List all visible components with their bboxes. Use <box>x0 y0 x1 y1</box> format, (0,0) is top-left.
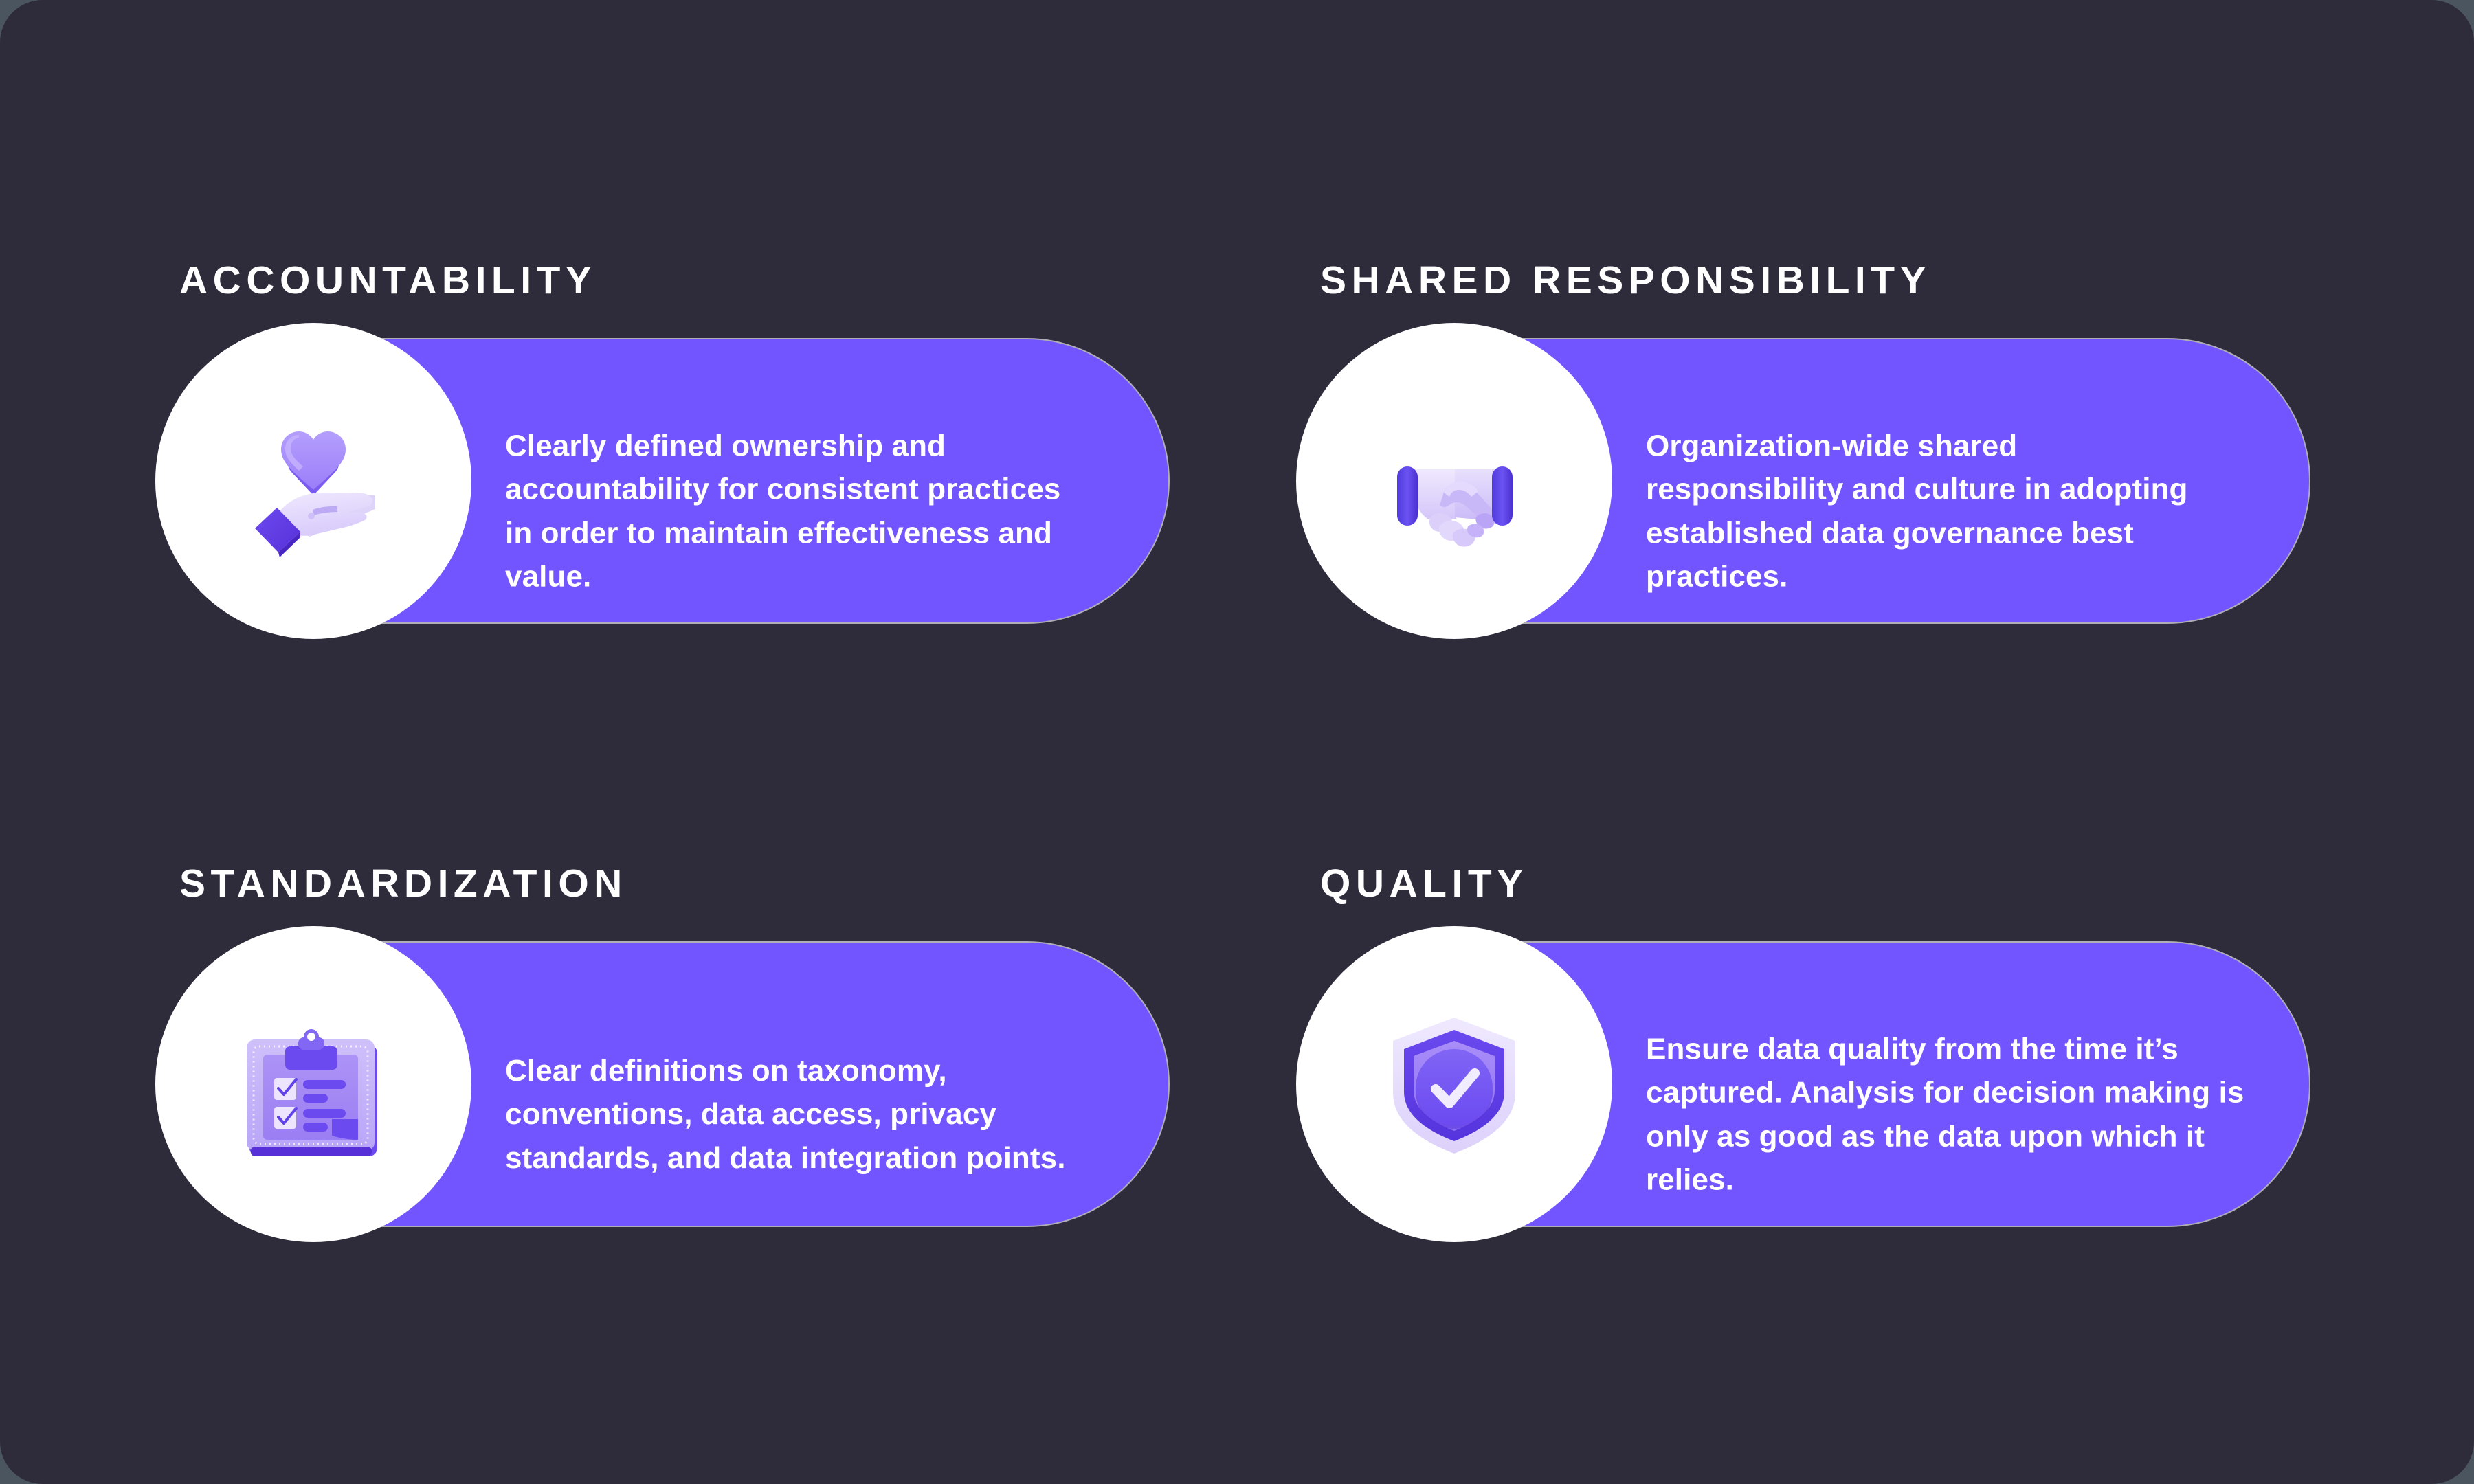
principle-card-accountability: ACCOUNTABILITY <box>172 261 1168 622</box>
icon-badge <box>155 926 471 1242</box>
card-pill[interactable]: Clear definitions on taxonomy, conventio… <box>172 943 1168 1226</box>
icon-badge <box>1296 926 1612 1242</box>
principle-card-shared-responsibility: SHARED RESPONSIBILITY <box>1313 261 2309 622</box>
principle-card-quality: QUALITY <box>1313 864 2309 1226</box>
clipboard-checklist-icon <box>227 998 399 1170</box>
icon-badge <box>1296 323 1612 639</box>
card-heading: STANDARDIZATION <box>179 864 1168 903</box>
principle-card-standardization: STANDARDIZATION <box>172 864 1168 1226</box>
card-body-text: Ensure data quality from the time it’s c… <box>1646 1027 2250 1201</box>
card-heading: SHARED RESPONSIBILITY <box>1320 261 2309 300</box>
card-body-text: Organization-wide shared responsibility … <box>1646 424 2206 598</box>
shield-check-icon <box>1368 998 1540 1170</box>
card-pill[interactable]: Ensure data quality from the time it’s c… <box>1313 943 2309 1226</box>
card-heading: QUALITY <box>1320 864 2309 903</box>
infographic-canvas: ACCOUNTABILITY <box>0 0 2474 1484</box>
card-body-text: Clear definitions on taxonomy, conventio… <box>505 1049 1101 1180</box>
handshake-icon <box>1368 395 1540 567</box>
card-pill[interactable]: Organization-wide shared responsibility … <box>1313 339 2309 622</box>
principles-grid: ACCOUNTABILITY <box>172 261 2309 1226</box>
card-pill[interactable]: Clearly defined ownership and accountabi… <box>172 339 1168 622</box>
heart-in-hand-icon <box>227 395 399 567</box>
card-body-text: Clearly defined ownership and accountabi… <box>505 424 1079 598</box>
icon-badge <box>155 323 471 639</box>
card-heading: ACCOUNTABILITY <box>179 261 1168 300</box>
